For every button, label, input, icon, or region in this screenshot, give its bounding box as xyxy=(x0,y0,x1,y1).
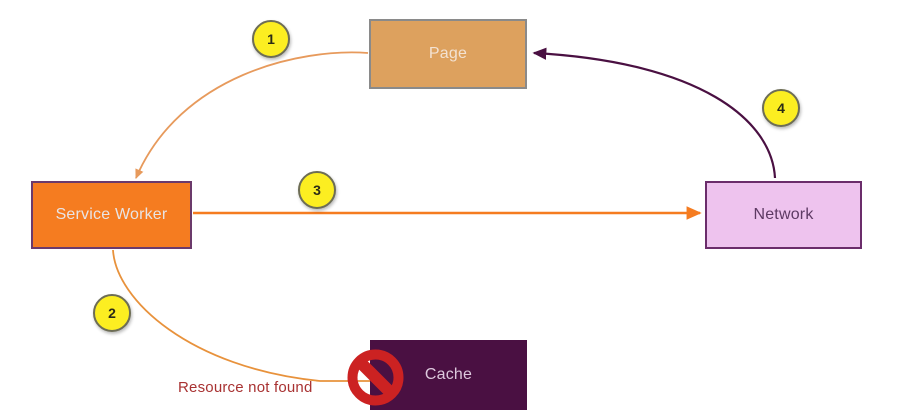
step-badge-4-label: 4 xyxy=(777,100,785,116)
node-network-label: Network xyxy=(753,206,813,224)
step-badge-4: 4 xyxy=(762,89,800,127)
no-entry-icon xyxy=(347,349,404,406)
node-service-worker[interactable]: Service Worker xyxy=(31,181,192,249)
step-badge-1-label: 1 xyxy=(267,31,275,47)
watermark xyxy=(838,393,894,411)
node-cache-label: Cache xyxy=(425,366,472,384)
node-page[interactable]: Page xyxy=(369,19,527,89)
connector-network-to-page xyxy=(534,53,775,178)
step-badge-2-label: 2 xyxy=(108,305,116,321)
step-badge-3: 3 xyxy=(298,171,336,209)
node-page-label: Page xyxy=(429,45,467,63)
step-badge-3-label: 3 xyxy=(313,182,321,198)
node-service-worker-label: Service Worker xyxy=(56,206,168,224)
resource-not-found-label: Resource not found xyxy=(178,379,313,396)
connector-page-to-service-worker xyxy=(136,52,368,178)
step-badge-1: 1 xyxy=(252,20,290,58)
step-badge-2: 2 xyxy=(93,294,131,332)
diagram-canvas: Page Service Worker Network Cache 1 2 3 … xyxy=(0,0,900,415)
node-network[interactable]: Network xyxy=(705,181,862,249)
connector-service-worker-to-cache xyxy=(113,250,370,381)
